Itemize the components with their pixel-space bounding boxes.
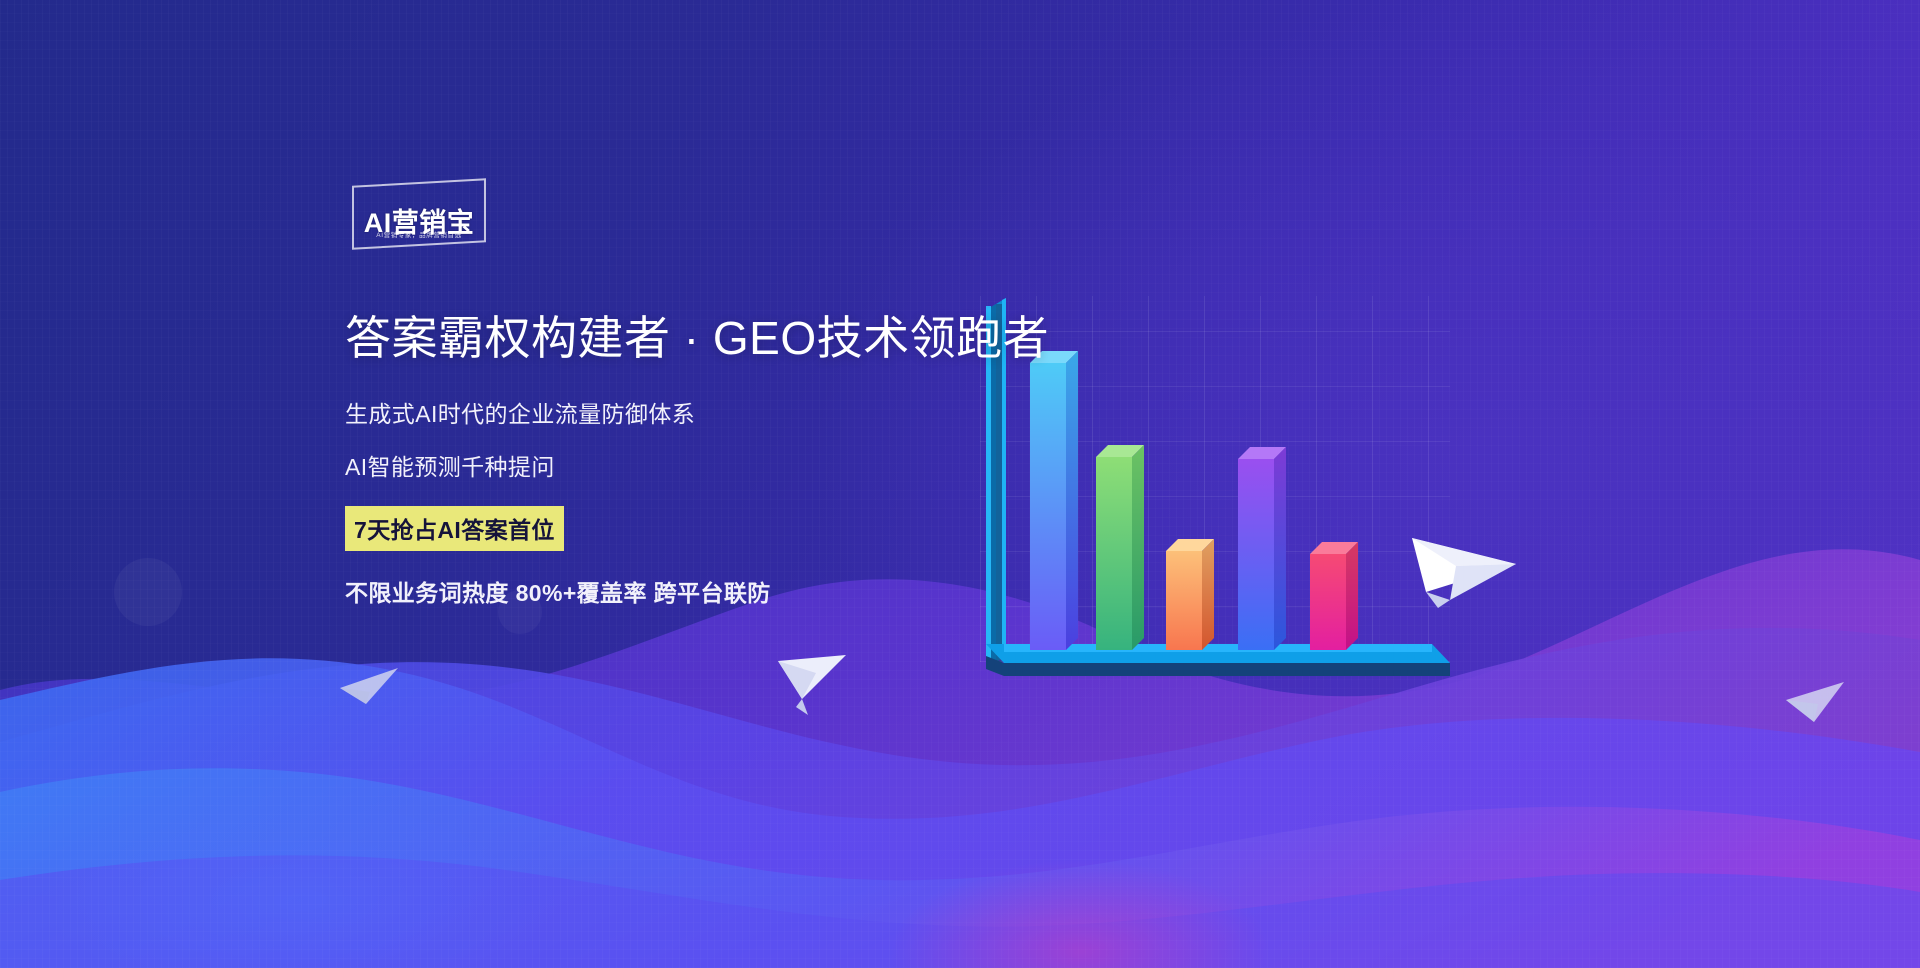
logo-tagline: AI营销专家，品牌营销首选: [376, 229, 461, 239]
hero-highlight-row: 7天抢占AI答案首位: [345, 506, 1065, 551]
hero-subtitle-4: 不限业务词热度 80%+覆盖率 跨平台联防: [345, 579, 1065, 608]
brand-logo[interactable]: AI营销宝 AI营销专家，品牌营销首选: [352, 182, 486, 246]
hero-subtitle-2: AI智能预测千种提问: [345, 453, 1065, 482]
hero-copy-block: 答案霸权构建者 · GEO技术领跑者 生成式AI时代的企业流量防御体系 AI智能…: [345, 310, 1065, 607]
hero-subtitle-1: 生成式AI时代的企业流量防御体系: [345, 400, 1065, 429]
hero-highlight-badge: 7天抢占AI答案首位: [345, 506, 564, 551]
paper-plane-icon: [340, 668, 398, 704]
hero-banner: AI营销宝 AI营销专家，品牌营销首选 答案霸权构建者 · GEO技术领跑者 生…: [0, 0, 1920, 968]
paper-plane-icon: [1786, 682, 1844, 722]
page-title: 答案霸权构建者 · GEO技术领跑者: [345, 310, 1065, 366]
paper-plane-icon: [1412, 538, 1516, 608]
paper-plane-icon: [778, 655, 846, 715]
